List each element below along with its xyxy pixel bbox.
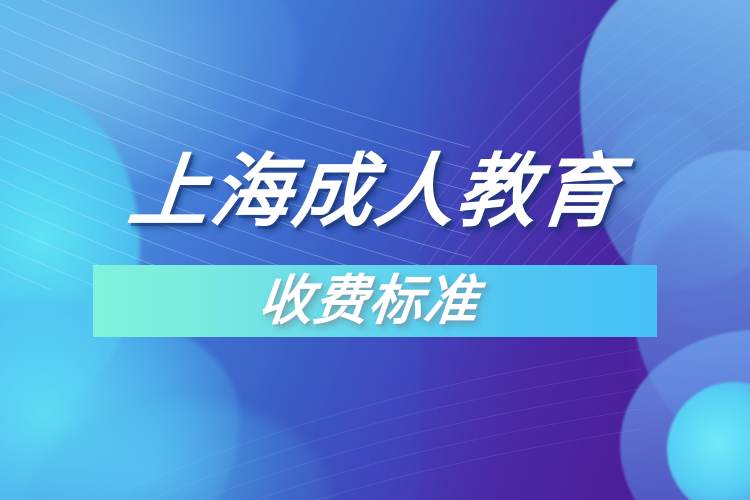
background-line-texture [0,0,750,500]
background-cyan-blob-right [667,382,750,500]
background-purple-wash [420,0,750,500]
background-wave-bottom-left [30,400,330,500]
banner-subtitle: 收费标准 [256,274,482,328]
background-purple-lobe-right [630,215,750,465]
promo-banner: 上海成人教育 收费标准 [0,0,750,500]
banner-subtitle-bar: 收费标准 [93,265,657,337]
banner-title-container: 上海成人教育 [0,152,750,232]
background-wave-left-teardrop [0,90,140,420]
banner-title: 上海成人教育 [125,152,625,232]
background-wave-right-lower [620,330,750,500]
